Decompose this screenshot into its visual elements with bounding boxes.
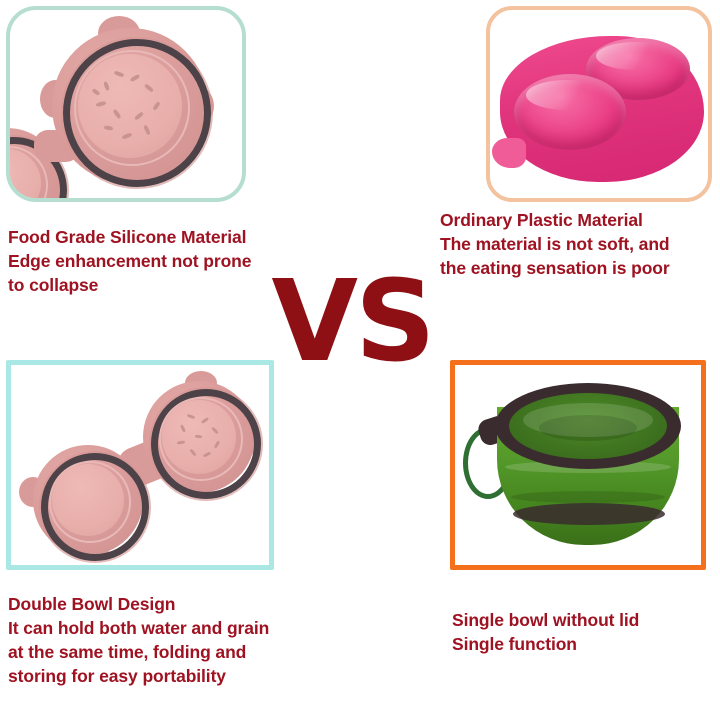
caption-top-right: Ordinary Plastic Material The material i… — [440, 208, 720, 280]
caption-bottom-left: Double Bowl Design It can hold both wate… — [8, 592, 360, 688]
panel-bottom-left-frame — [6, 360, 274, 570]
vs-label: VS — [262, 266, 442, 378]
plastic-bowl-foot — [492, 138, 526, 168]
wall-ridge-2 — [511, 491, 665, 503]
panel-top-left-frame — [6, 6, 246, 202]
photo-plastic-double-bowl — [490, 10, 708, 198]
bowl-lower-left — [25, 441, 149, 563]
caption-bottom-right: Single bowl without lid Single function — [452, 608, 720, 656]
photo-silicone-lid-bowl — [10, 10, 242, 198]
gloss-highlight-front — [526, 80, 608, 110]
photo-double-silicone-bowl — [11, 365, 269, 565]
comparison-infographic: Food Grade Silicone Material Edge enhanc… — [0, 0, 720, 720]
photo-green-collapsible-bowl — [455, 365, 701, 565]
panel-top-right-frame — [486, 6, 712, 202]
gloss-highlight-rear — [596, 42, 674, 70]
interior-ridge-2 — [539, 415, 637, 441]
bowl-upper-right — [139, 375, 259, 495]
panel-bottom-right-frame — [450, 360, 706, 570]
bowl-rim-front-band — [513, 503, 665, 525]
main-silicone-bowl — [46, 20, 216, 190]
